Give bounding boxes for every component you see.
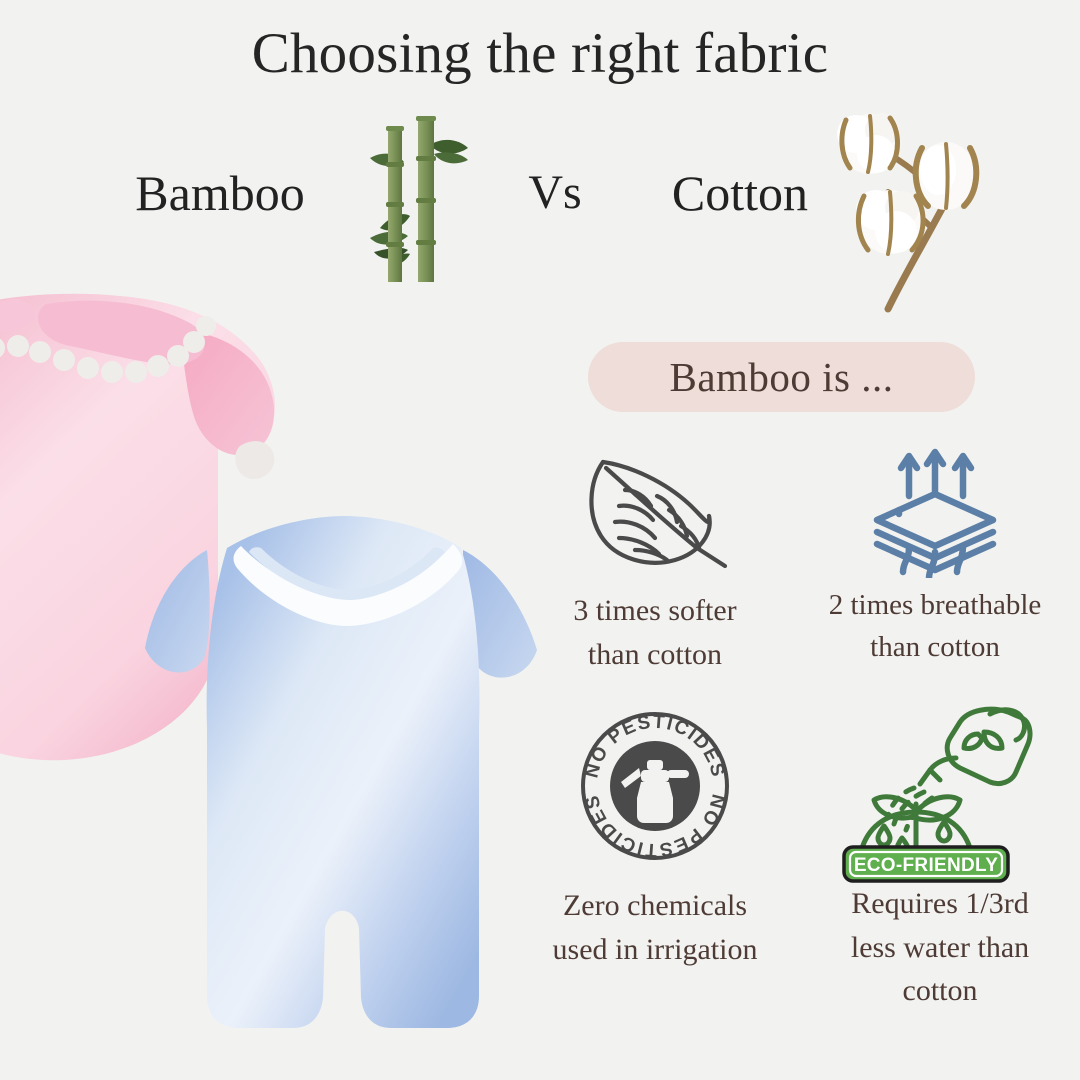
benefit-softness-text: 3 times softer than cotton — [573, 589, 736, 676]
comparison-left-term: Bamboo — [95, 148, 345, 238]
eco-friendly-badge-label: ECO-FRIENDLY — [854, 855, 998, 876]
benefit-no-pesticides-line-1: Zero chemicals — [553, 884, 758, 928]
no-pesticides-stamp-icon: NO PESTICIDES NO PESTICIDES — [575, 706, 735, 866]
feather-icon — [573, 448, 738, 583]
benefit-no-pesticides-text: Zero chemicals used in irrigation — [553, 884, 758, 971]
infographic-canvas: Choosing the right fabric Bamboo Vs Cott… — [0, 0, 1080, 1080]
benefit-softness-line-2: than cotton — [573, 633, 736, 677]
bamboo-is-banner-label: Bamboo is ... — [669, 353, 893, 401]
benefit-softness-line-1: 3 times softer — [573, 589, 736, 633]
breathable-layers-icon — [865, 448, 1005, 578]
benefit-breathability-text: 2 times breathable than cotton — [829, 584, 1042, 668]
bamboo-stalks-illustration — [352, 110, 478, 288]
cotton-branch-illustration — [826, 104, 1026, 319]
comparison-vs-label: Vs — [500, 148, 610, 238]
benefit-card-softness: 3 times softer than cotton — [520, 448, 790, 676]
benefit-breathability-line-2: than cotton — [829, 626, 1042, 668]
benefit-card-breathability: 2 times breathable than cotton — [790, 448, 1080, 668]
benefit-water-use-line-3: cotton — [851, 969, 1029, 1013]
blue-baby-romper-illustration — [145, 508, 540, 1053]
bamboo-is-banner: Bamboo is ... — [588, 342, 975, 412]
comparison-right-term: Cotton — [620, 148, 860, 238]
benefit-no-pesticides-line-2: used in irrigation — [553, 928, 758, 972]
page-title: Choosing the right fabric — [0, 24, 1080, 84]
eco-friendly-badge: ECO-FRIENDLY — [842, 845, 1010, 883]
benefit-water-use-text: Requires 1/3rd less water than cotton — [851, 882, 1029, 1013]
benefit-water-use-line-2: less water than — [851, 926, 1029, 970]
benefit-water-use-line-1: Requires 1/3rd — [851, 882, 1029, 926]
benefit-breathability-line-1: 2 times breathable — [829, 584, 1042, 626]
benefit-card-no-pesticides: NO PESTICIDES NO PESTICIDES Zero chemica… — [520, 706, 790, 971]
